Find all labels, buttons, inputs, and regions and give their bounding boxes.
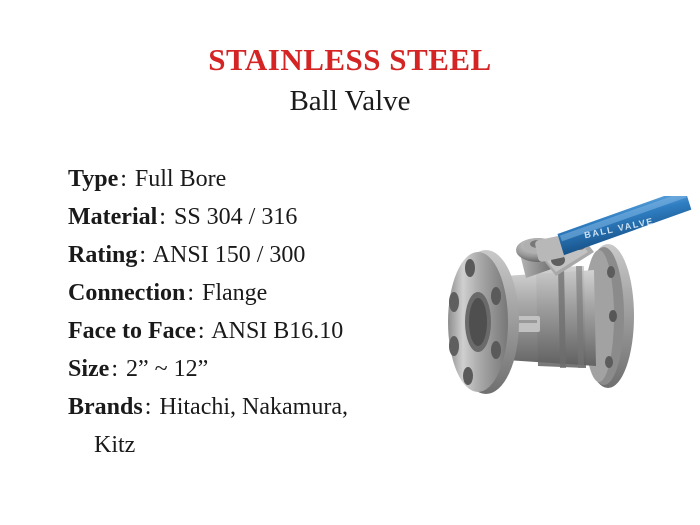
spec-row-material: Material: SS 304 / 316 (68, 198, 448, 236)
spec-separator: : (157, 204, 168, 230)
title-block: STAINLESS STEEL Ball Valve (0, 44, 700, 117)
slide-canvas: STAINLESS STEEL Ball Valve Type: Full Bo… (0, 0, 700, 525)
spec-separator: : (109, 356, 120, 382)
spec-separator: : (196, 318, 207, 344)
spec-row-size: Size: 2” ~ 12” (68, 350, 448, 388)
spec-value: ANSI B16.10 (211, 318, 343, 344)
specification-list: Type: Full Bore Material: SS 304 / 316 R… (68, 160, 448, 464)
spec-value: ANSI 150 / 300 (153, 242, 306, 268)
near-flange (448, 250, 519, 394)
spec-label: Connection (68, 280, 185, 306)
spec-label: Brands (68, 394, 143, 420)
spec-row-brands: Brands: Hitachi, Nakamura, (68, 388, 448, 426)
spec-row-face-to-face: Face to Face: ANSI B16.10 (68, 312, 448, 350)
spec-row-brands-continuation: Kitz (68, 426, 448, 464)
spec-value: Flange (202, 280, 267, 306)
spec-value: Hitachi, Nakamura, (159, 394, 348, 420)
page-title: STAINLESS STEEL (0, 44, 700, 77)
spec-label: Size (68, 356, 109, 382)
spec-value: SS 304 / 316 (174, 204, 297, 230)
page-subtitle: Ball Valve (0, 86, 700, 118)
product-image-ball-valve: BALL VALVE (408, 196, 700, 428)
spec-label: Type (68, 166, 118, 192)
spec-separator: : (118, 166, 129, 192)
spec-label: Rating (68, 242, 137, 268)
spec-value: Full Bore (135, 166, 226, 192)
spec-row-type: Type: Full Bore (68, 160, 448, 198)
spec-row-connection: Connection: Flange (68, 274, 448, 312)
ball-valve-illustration: BALL VALVE (408, 196, 700, 428)
spec-separator: : (185, 280, 196, 306)
spec-label: Face to Face (68, 318, 196, 344)
spec-label: Material (68, 204, 157, 230)
spec-row-rating: Rating: ANSI 150 / 300 (68, 236, 448, 274)
spec-separator: : (143, 394, 154, 420)
spec-value: 2” ~ 12” (126, 356, 208, 382)
spec-separator: : (137, 242, 148, 268)
